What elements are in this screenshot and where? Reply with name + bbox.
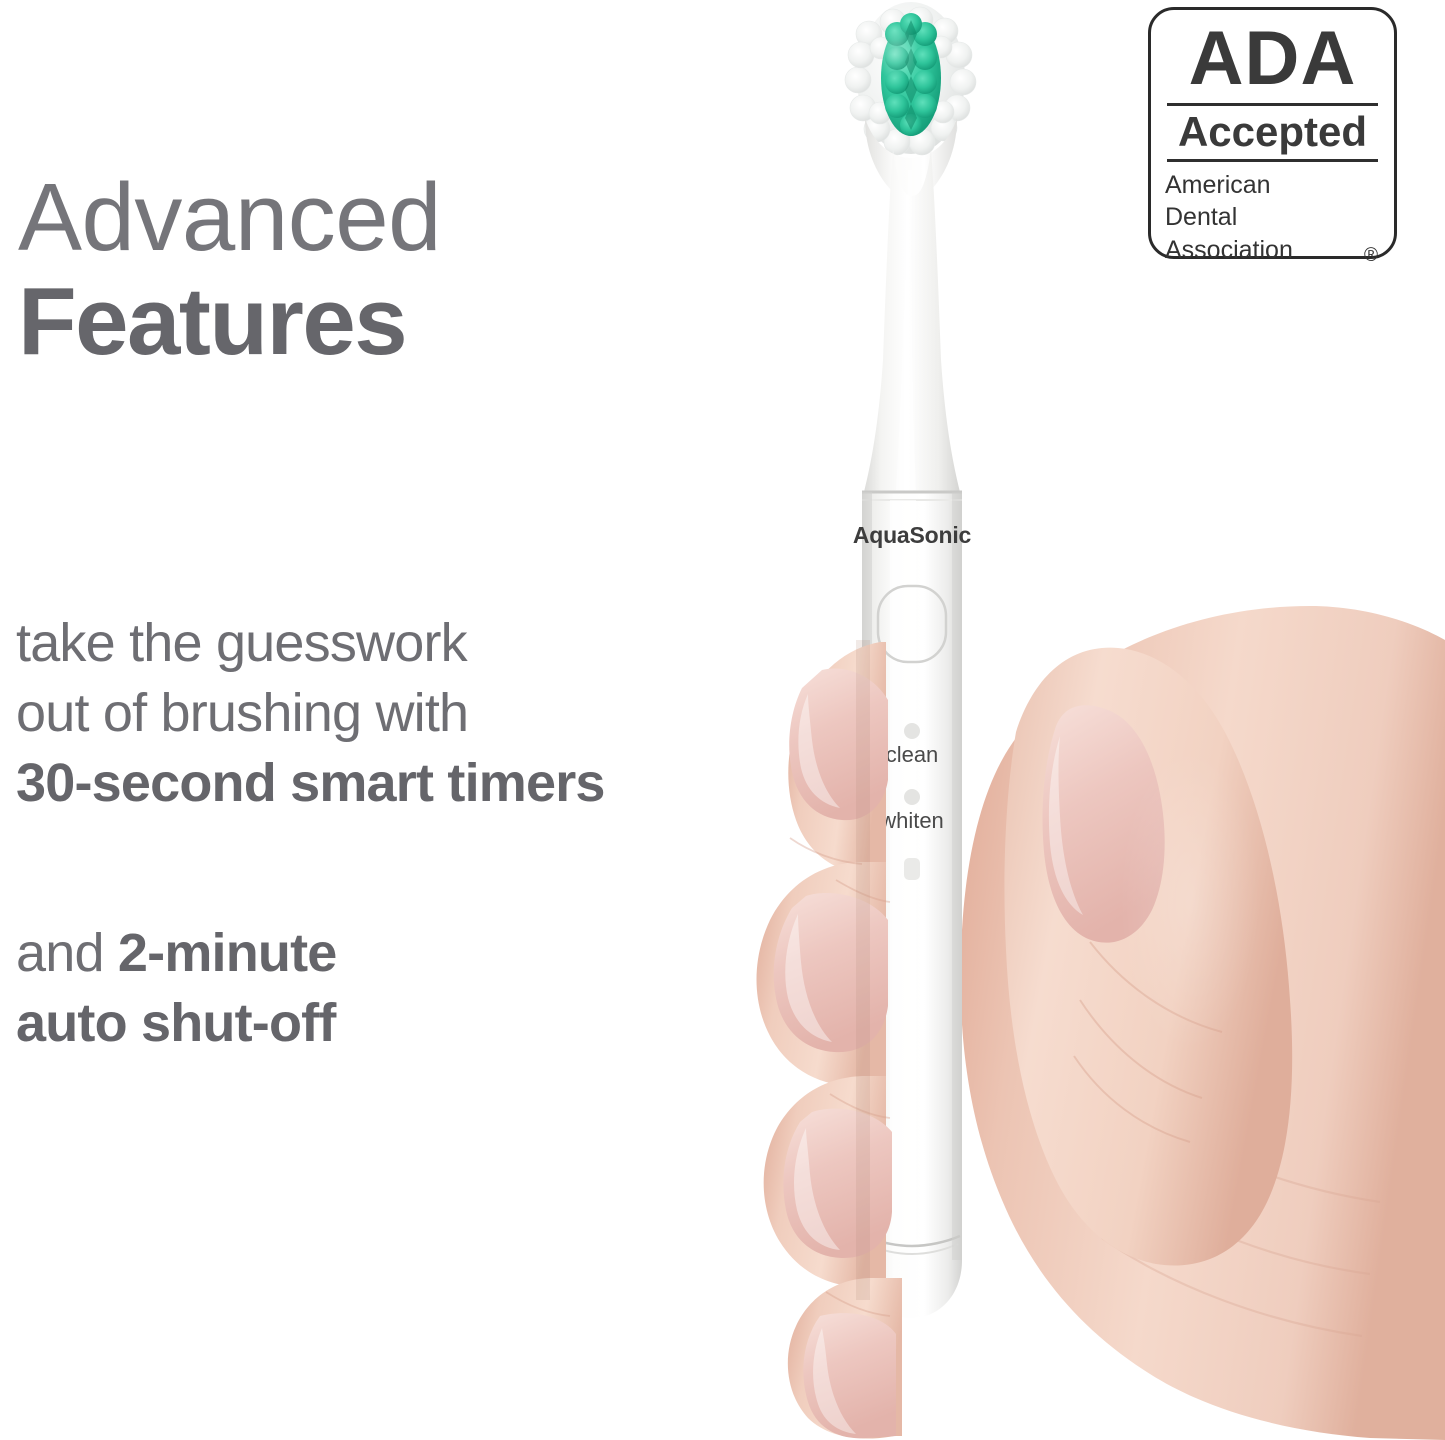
brand-logo-text: AquaSonic: [853, 522, 972, 548]
product-photo-hand-holding-toothbrush: AquaSonic clean whiten: [650, 0, 1445, 1440]
hand-fingers: [757, 642, 903, 1439]
copy-line-4-highlight: 2-minute: [118, 923, 337, 983]
headline-block: Advanced Features: [18, 168, 718, 372]
led-indicator-third: [904, 858, 920, 880]
brush-neck: [864, 150, 960, 492]
mode-label-clean: clean: [886, 742, 939, 767]
led-indicator-clean: [904, 723, 920, 739]
contact-shadow: [856, 640, 870, 1300]
headline-line-advanced: Advanced: [18, 168, 718, 268]
copy-line-4-prefix: and: [16, 923, 118, 983]
product-feature-image: Advanced Features take the guesswork out…: [0, 0, 1445, 1440]
brush-head-bristles: [845, 2, 976, 155]
mode-label-whiten: whiten: [879, 808, 944, 833]
headline-line-features: Features: [18, 272, 718, 372]
led-indicator-whiten: [904, 789, 920, 805]
